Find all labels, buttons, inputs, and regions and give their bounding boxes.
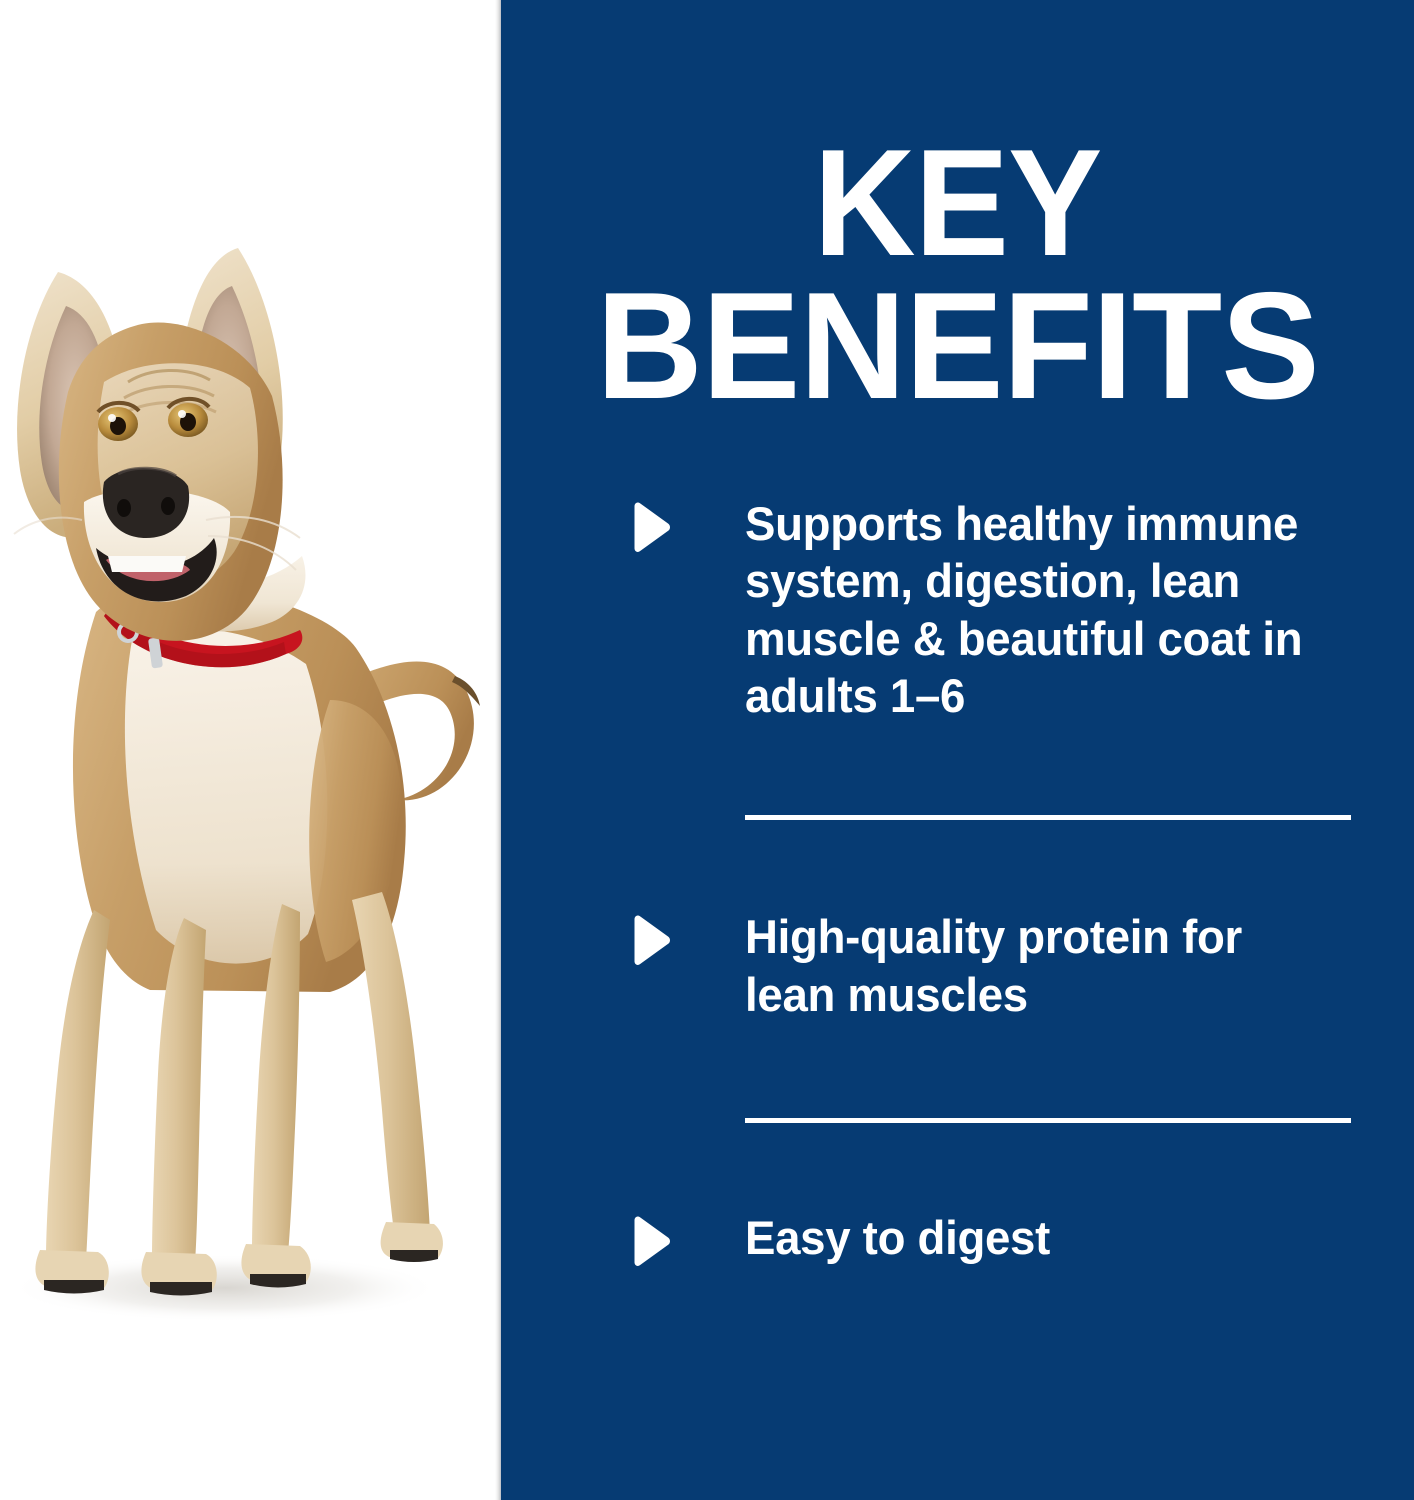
list-item-label: Easy to digest xyxy=(745,1209,1340,1266)
page-title-line-2: BENEFITS xyxy=(514,275,1401,418)
benefits-list: Supports healthy immune system, digestio… xyxy=(628,495,1358,1266)
triangle-right-icon xyxy=(628,1209,672,1265)
dog-photo-panel xyxy=(0,0,501,1500)
list-item: Easy to digest xyxy=(628,1209,1358,1266)
page-title-line-1: KEY xyxy=(533,132,1382,275)
triangle-right-icon xyxy=(628,908,672,964)
list-item: Supports healthy immune system, digestio… xyxy=(628,495,1358,724)
product-benefits-card: KEY BENEFITS Supports healthy immune sys… xyxy=(0,0,1414,1500)
list-item-label: Supports healthy immune system, digestio… xyxy=(745,495,1340,724)
dog-illustration xyxy=(0,0,501,1500)
page-title: KEY BENEFITS xyxy=(533,132,1382,418)
list-item: High-quality protein for lean muscles xyxy=(628,908,1358,1023)
key-benefits-panel: KEY BENEFITS Supports healthy immune sys… xyxy=(501,0,1414,1500)
list-item-label: High-quality protein for lean muscles xyxy=(745,908,1340,1023)
triangle-right-icon xyxy=(628,495,672,551)
